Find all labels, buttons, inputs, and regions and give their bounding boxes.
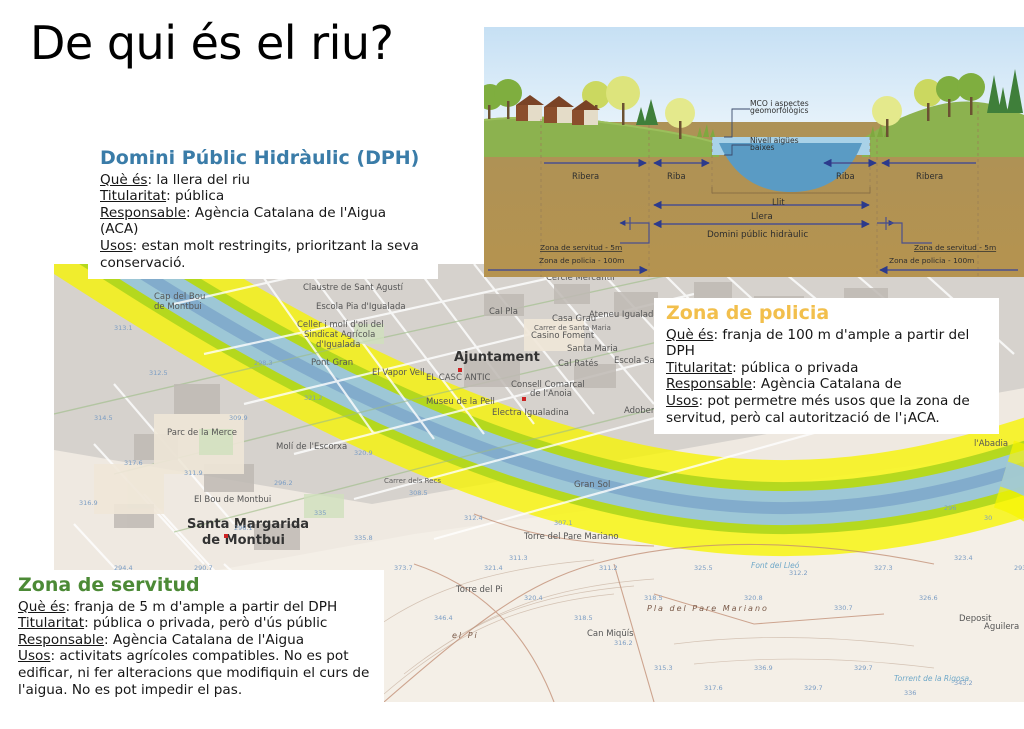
- map-label: Molí de l'Escorxa: [276, 442, 347, 452]
- diagram-label-ribera-left: Ribera: [572, 171, 599, 181]
- map-label: el Pi: [452, 631, 479, 640]
- card-zona-de-policia: Zona de policia Què és: franja de 100 m …: [654, 298, 999, 434]
- diagram-label-servitud-left: Zona de servitud - 5m: [540, 243, 622, 252]
- map-elevation-label: 336.9: [754, 664, 773, 672]
- map-elevation-label: 346.4: [434, 614, 453, 622]
- map-label: Torre del Pi: [456, 585, 503, 595]
- map-elevation-label: 329.7: [854, 664, 873, 672]
- map-elevation-label: 298.3: [254, 359, 273, 367]
- map-elevation-label: 312.4: [464, 514, 483, 522]
- card-line: Responsable: Agència Catalana de l'Aigua: [18, 632, 374, 649]
- card-line-key: Responsable: [100, 205, 186, 221]
- map-elevation-label: 321.2: [304, 394, 323, 402]
- map-label: Casino Foment: [531, 331, 594, 341]
- map-elevation-label: 318.5: [644, 594, 663, 602]
- map-elevation-label: 296: [944, 504, 956, 512]
- map-elevation-label: 323.4: [954, 554, 973, 562]
- map-label: de Montbui: [202, 533, 285, 548]
- map-elevation-label: 317.6: [124, 459, 143, 467]
- map-elevation-label: 309.9: [229, 414, 248, 422]
- card-servitud-body: Què és: franja de 5 m d'ample a partir d…: [18, 599, 374, 698]
- card-line-key: Titularitat: [100, 188, 166, 204]
- map-elevation-label: 320.4: [524, 594, 543, 602]
- map-elevation-label: 314.5: [94, 414, 113, 422]
- map-elevation-label: 336: [904, 689, 916, 697]
- map-label: Cal Pla: [489, 307, 518, 317]
- map-elevation-label: 307.1: [554, 519, 573, 527]
- map-label: Ajuntament: [454, 350, 540, 365]
- map-label: Pla del Pare Mariano: [647, 604, 769, 613]
- card-policia-heading: Zona de policia: [666, 302, 989, 326]
- diagram-label-ribera-right: Ribera: [916, 171, 943, 181]
- card-line: Què és: franja de 100 m d'ample a partir…: [666, 327, 989, 360]
- map-elevation-label: 343.2: [954, 679, 973, 687]
- map-elevation-label: 318.5: [574, 614, 593, 622]
- map-elevation-label: 316.9: [79, 499, 98, 507]
- map-elevation-label: 312.5: [149, 369, 168, 377]
- map-label: Cal Ratés: [558, 359, 598, 369]
- diagram-label-servitud-right: Zona de servitud - 5m: [914, 243, 996, 252]
- map-elevation-label: 335: [314, 509, 326, 517]
- map-label: de l'Anoia: [530, 389, 572, 399]
- diagram-label-llera: Llera: [751, 212, 773, 222]
- map-elevation-label: 308.5: [409, 489, 428, 497]
- map-label: l'Abadia: [974, 439, 1008, 449]
- map-elevation-label: 312.2: [789, 569, 808, 577]
- map-label: Celler i molí d'oli del: [297, 320, 384, 330]
- map-elevation-label: 311.2: [599, 564, 618, 572]
- card-line-key: Què és: [18, 599, 65, 615]
- card-line-key: Responsable: [666, 376, 752, 392]
- cross-section-svg: MCO i aspectes geomorfològics Nivell aig…: [484, 27, 1024, 277]
- map-elevation-label: 321.4: [484, 564, 503, 572]
- map-elevation-label: 320.8: [744, 594, 763, 602]
- map-elevation-label: 296.1: [234, 524, 253, 532]
- map-poi-marker: [458, 368, 462, 372]
- card-line-key: Titularitat: [18, 615, 84, 631]
- map-elevation-label: 327.3: [874, 564, 893, 572]
- map-label: Carrer dels Recs: [384, 477, 441, 485]
- card-line: Què és: la llera del riu: [100, 172, 428, 189]
- map-elevation-label: 315.3: [654, 664, 673, 672]
- map-label: El Bou de Montbui: [194, 495, 271, 505]
- card-line: Usos: estan molt restringits, prioritzan…: [100, 238, 428, 271]
- map-label: Can Miqüís: [587, 629, 634, 639]
- map-label: Cap del Bou: [154, 292, 205, 302]
- card-zona-de-servitud: Zona de servitud Què és: franja de 5 m d…: [6, 570, 384, 706]
- map-label: Ateneu Igualadí: [589, 310, 656, 320]
- map-label: Claustre de Sant Agustí: [303, 283, 403, 293]
- diagram-label-llit: Llit: [772, 197, 785, 207]
- card-line: Responsable: Agència Catalana de l'Aigua…: [100, 205, 428, 238]
- card-line: Responsable: Agència Catalana de: [666, 376, 989, 393]
- map-elevation-label: 311.3: [509, 554, 528, 562]
- card-dph-body: Què és: la llera del riuTitularitat: púb…: [100, 172, 428, 271]
- river-cross-section-diagram: MCO i aspectes geomorfològics Nivell aig…: [484, 27, 1024, 277]
- diagram-label-policia-right: Zona de policia - 100m: [889, 256, 974, 265]
- diagram-label-riba-right: Riba: [836, 171, 855, 181]
- page-title: De qui és el riu?: [30, 16, 393, 70]
- diagram-label-policia-left: Zona de policia - 100m: [539, 256, 624, 265]
- card-dph-heading: Domini Públic Hidràulic (DPH): [100, 147, 428, 171]
- map-label: Deposit: [959, 614, 992, 624]
- map-label: Gran Sol: [574, 480, 610, 490]
- diagram-label-riba-left: Riba: [667, 171, 686, 181]
- card-line-key: Usos: [18, 648, 50, 664]
- card-line: Titularitat: pública o privada: [666, 360, 989, 377]
- diagram-callout-mco-line2: geomorfològics: [750, 106, 808, 115]
- map-elevation-label: 326.6: [919, 594, 938, 602]
- card-line-key: Què és: [100, 172, 147, 188]
- map-label: Museu de la Pell: [426, 397, 495, 407]
- card-line: Titularitat: pública o privada, però d'ú…: [18, 615, 374, 632]
- map-label: Electra Igualadina: [492, 408, 569, 418]
- card-line: Usos: activitats agrícoles compatibles. …: [18, 648, 374, 698]
- map-poi-marker: [522, 397, 526, 401]
- map-label: Carrer de Santa Maria: [534, 324, 611, 332]
- map-elevation-label: 293.2: [1014, 564, 1024, 572]
- map-elevation-label: 373.7: [394, 564, 413, 572]
- map-elevation-label: 330.7: [834, 604, 853, 612]
- map-label: Escola Pia d'Igualada: [316, 302, 406, 312]
- map-label: Pont Gran: [311, 358, 353, 368]
- card-line: Usos: pot permetre més usos que la zona …: [666, 393, 989, 426]
- card-line-key: Usos: [666, 393, 698, 409]
- card-line-key: Què és: [666, 327, 713, 343]
- map-label: El Vapor Vell: [372, 368, 425, 378]
- map-label: Santa Maria: [567, 344, 618, 354]
- card-line-key: Usos: [100, 238, 132, 254]
- card-servitud-heading: Zona de servitud: [18, 574, 374, 598]
- diagram-callout-nivell-line2: baixes: [750, 143, 775, 152]
- map-label: EL CASC ANTIC: [426, 373, 490, 383]
- card-line: Què és: franja de 5 m d'ample a partir d…: [18, 599, 374, 616]
- map-elevation-label: 320.9: [354, 449, 373, 457]
- map-elevation-label: 316.2: [614, 639, 633, 647]
- map-elevation-label: 329.7: [804, 684, 823, 692]
- map-poi-marker: [224, 534, 228, 538]
- map-label: Sindicat Agrícola: [304, 330, 375, 340]
- map-elevation-label: 296.2: [274, 479, 293, 487]
- map-elevation-label: 335.8: [354, 534, 373, 542]
- map-label: Torre del Pare Mariano: [524, 532, 619, 542]
- diagram-label-dph: Domini públic hidràulic: [707, 230, 808, 240]
- map-elevation-label: 325.5: [694, 564, 713, 572]
- card-policia-body: Què és: franja de 100 m d'ample a partir…: [666, 327, 989, 426]
- map-elevation-label: 317.6: [704, 684, 723, 692]
- map-label: Parc de la Merce: [167, 428, 237, 438]
- map-elevation-label: 313.1: [114, 324, 133, 332]
- card-domini-public-hidraulic: Domini Públic Hidràulic (DPH) Què és: la…: [88, 143, 438, 279]
- map-label: d'Igualada: [316, 340, 360, 350]
- card-line: Titularitat: pública: [100, 188, 428, 205]
- map-label: de Montbui: [154, 302, 202, 312]
- map-elevation-label: 311.9: [184, 469, 203, 477]
- map-elevation-label: 30: [984, 514, 992, 522]
- card-line-key: Titularitat: [666, 360, 732, 376]
- card-line-key: Responsable: [18, 632, 104, 648]
